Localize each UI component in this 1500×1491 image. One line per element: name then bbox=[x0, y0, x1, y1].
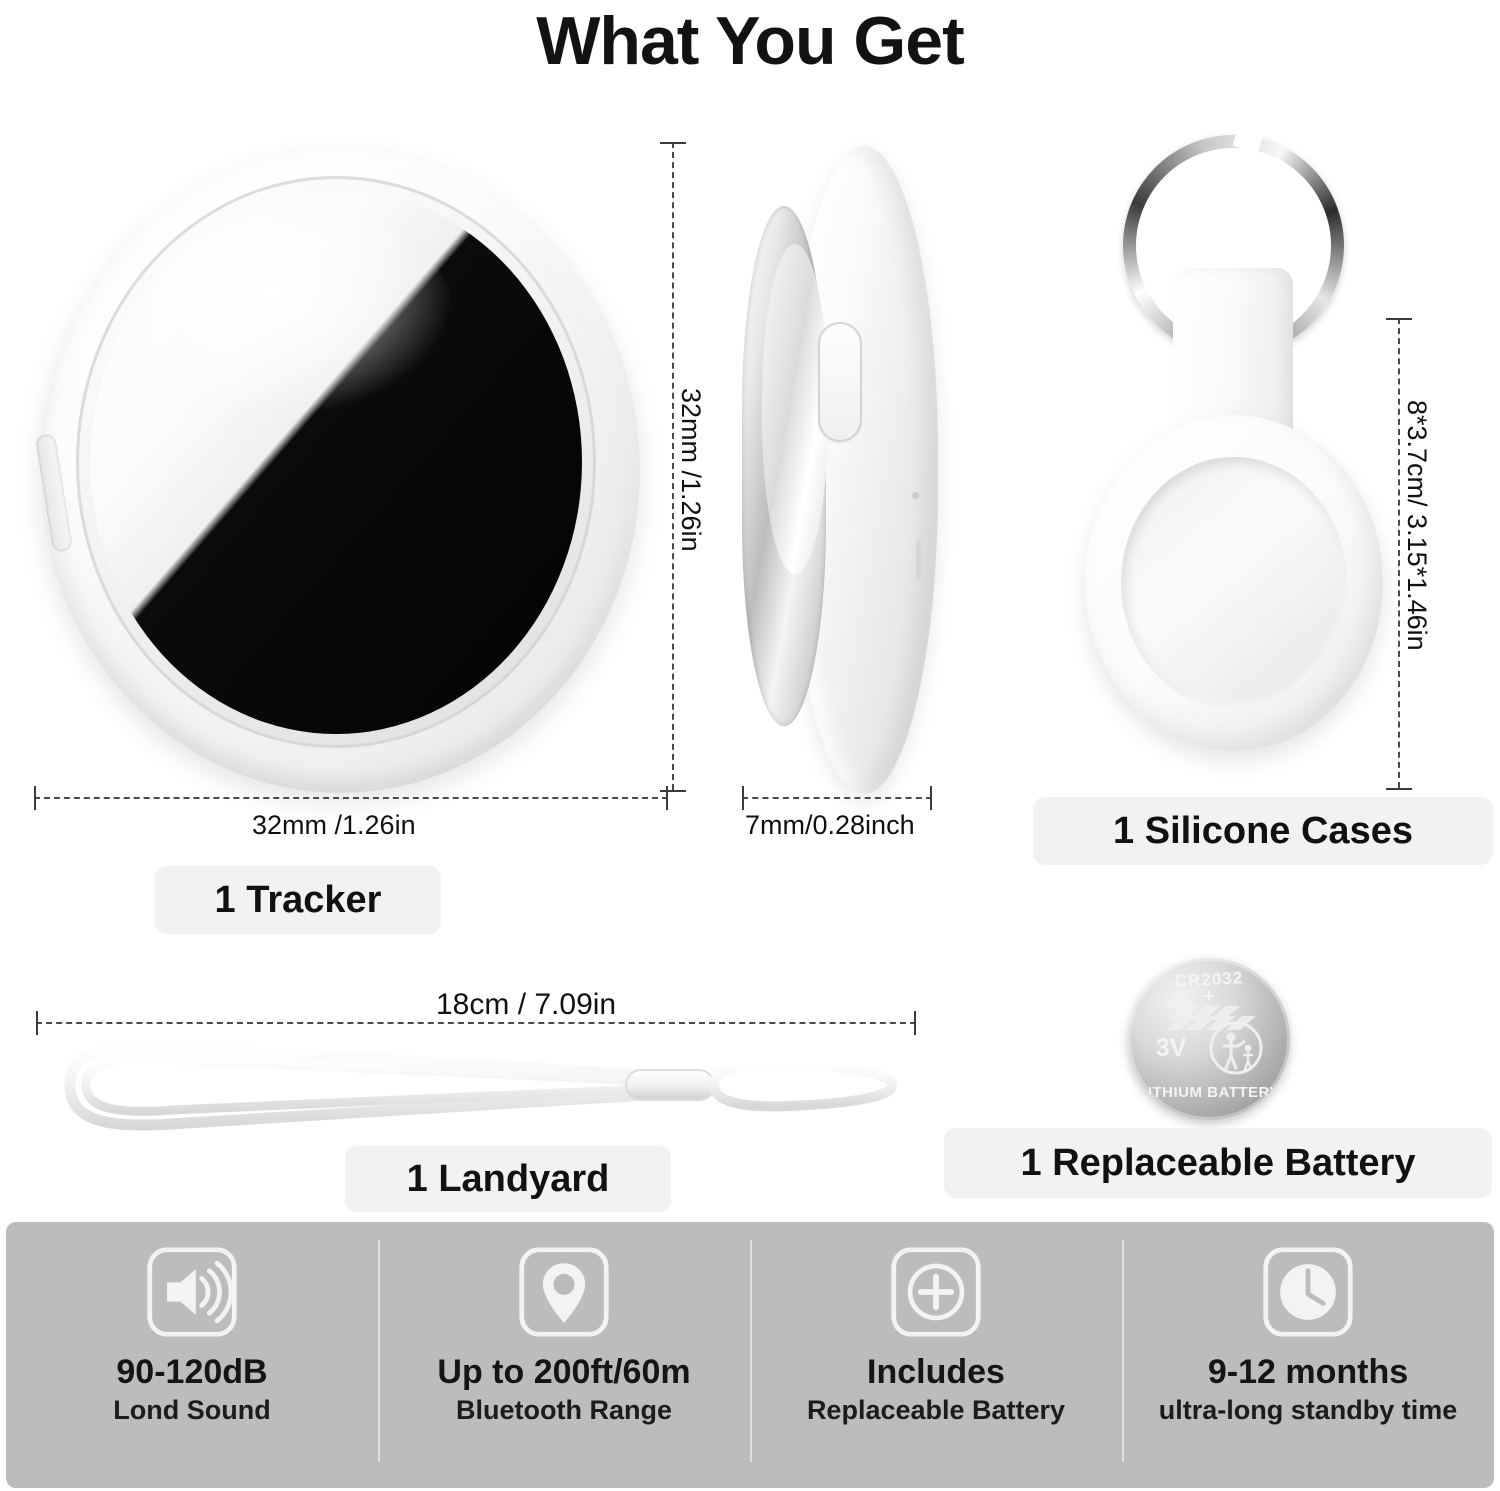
coin-battery-icon bbox=[888, 1244, 984, 1340]
tracker-width-label: 32mm /1.26in bbox=[252, 810, 416, 841]
feature-subtitle: ultra-long standby time bbox=[1159, 1395, 1458, 1427]
tracker-item-label: 1 Tracker bbox=[215, 879, 382, 922]
feature-bar: 90-120dB Lond Sound Up to 200ft/60m Blue… bbox=[6, 1222, 1494, 1488]
tracker-gloss-highlight bbox=[149, 212, 454, 419]
battery-chemistry-text: LITHIUM BATTERY bbox=[1128, 1084, 1290, 1101]
silicone-case-image bbox=[1085, 130, 1385, 790]
tracker-side-image bbox=[740, 140, 940, 800]
lanyard-item-badge: 1 Landyard bbox=[345, 1146, 671, 1212]
lanyard-sleeve bbox=[626, 1070, 714, 1100]
tracker-side-speaker-slot bbox=[916, 540, 921, 580]
feature-subtitle: Replaceable Battery bbox=[807, 1395, 1065, 1427]
feature-replaceable-battery: Includes Replaceable Battery bbox=[750, 1222, 1122, 1488]
tracker-width-tick-right bbox=[666, 786, 668, 810]
case-size-dimension-line bbox=[1398, 318, 1400, 788]
feature-standby-time: 9-12 months ultra-long standby time bbox=[1122, 1222, 1494, 1488]
lanyard-image bbox=[30, 1030, 920, 1140]
feature-subtitle: Bluetooth Range bbox=[456, 1395, 672, 1427]
tracker-height-tick-top bbox=[660, 142, 686, 144]
lanyard-item-label: 1 Landyard bbox=[407, 1158, 610, 1201]
tracker-width-dimension-line bbox=[34, 797, 668, 799]
tracker-thickness-tick-right bbox=[930, 786, 932, 810]
silicone-case-body bbox=[1085, 415, 1383, 751]
tracker-thickness-dimension-line bbox=[742, 797, 932, 799]
lanyard-svg bbox=[30, 1030, 920, 1140]
case-size-tick-bottom bbox=[1386, 788, 1412, 790]
feature-title: Up to 200ft/60m bbox=[437, 1354, 690, 1391]
battery-image: CR2032 + 3V LI bbox=[1128, 958, 1290, 1120]
tracker-height-dimension-line bbox=[672, 142, 674, 790]
silicone-case-item-badge: 1 Silicone Cases bbox=[1033, 797, 1493, 865]
lanyard-small-loop bbox=[714, 1064, 892, 1107]
battery-item-label: 1 Replaceable Battery bbox=[1021, 1142, 1416, 1185]
tracker-thickness-tick-left bbox=[742, 786, 744, 810]
feature-bluetooth-range: Up to 200ft/60m Bluetooth Range bbox=[378, 1222, 750, 1488]
lanyard-length-label: 18cm / 7.09in bbox=[436, 988, 616, 1022]
silicone-case-item-label: 1 Silicone Cases bbox=[1113, 810, 1413, 853]
tracker-width-tick-left bbox=[34, 786, 36, 810]
tracker-height-label: 32mm /1.26in bbox=[675, 388, 706, 552]
tracker-height-tick-bottom bbox=[660, 790, 686, 792]
cr2032-coin: CR2032 + 3V LI bbox=[1128, 958, 1290, 1120]
page-title: What You Get bbox=[0, 2, 1500, 80]
feature-title: Includes bbox=[867, 1354, 1005, 1391]
tracker-front-image bbox=[32, 140, 652, 800]
clock-icon bbox=[1260, 1244, 1356, 1340]
feature-loud-sound: 90-120dB Lond Sound bbox=[6, 1222, 378, 1488]
case-size-label: 8*3.7cm/ 3.15*1.46in bbox=[1401, 400, 1432, 651]
lanyard-length-dimension-line bbox=[36, 1022, 916, 1024]
tracker-thickness-label: 7mm/0.28inch bbox=[745, 810, 915, 841]
silicone-case-well bbox=[1121, 457, 1347, 709]
tracker-face bbox=[90, 190, 582, 734]
feature-subtitle: Lond Sound bbox=[113, 1395, 270, 1427]
tracker-item-badge: 1 Tracker bbox=[155, 866, 441, 934]
battery-item-badge: 1 Replaceable Battery bbox=[944, 1128, 1492, 1198]
tracker-side-button bbox=[818, 322, 862, 442]
feature-title: 9-12 months bbox=[1208, 1354, 1408, 1391]
infographic-canvas: What You Get 32mm /1.26in 32mm /1.26in 1… bbox=[0, 0, 1500, 1491]
feature-title: 90-120dB bbox=[116, 1354, 267, 1391]
tracker-side-pinhole bbox=[912, 492, 919, 499]
speaker-volume-icon bbox=[144, 1244, 240, 1340]
case-size-tick-top bbox=[1386, 318, 1412, 320]
location-pin-icon bbox=[516, 1244, 612, 1340]
